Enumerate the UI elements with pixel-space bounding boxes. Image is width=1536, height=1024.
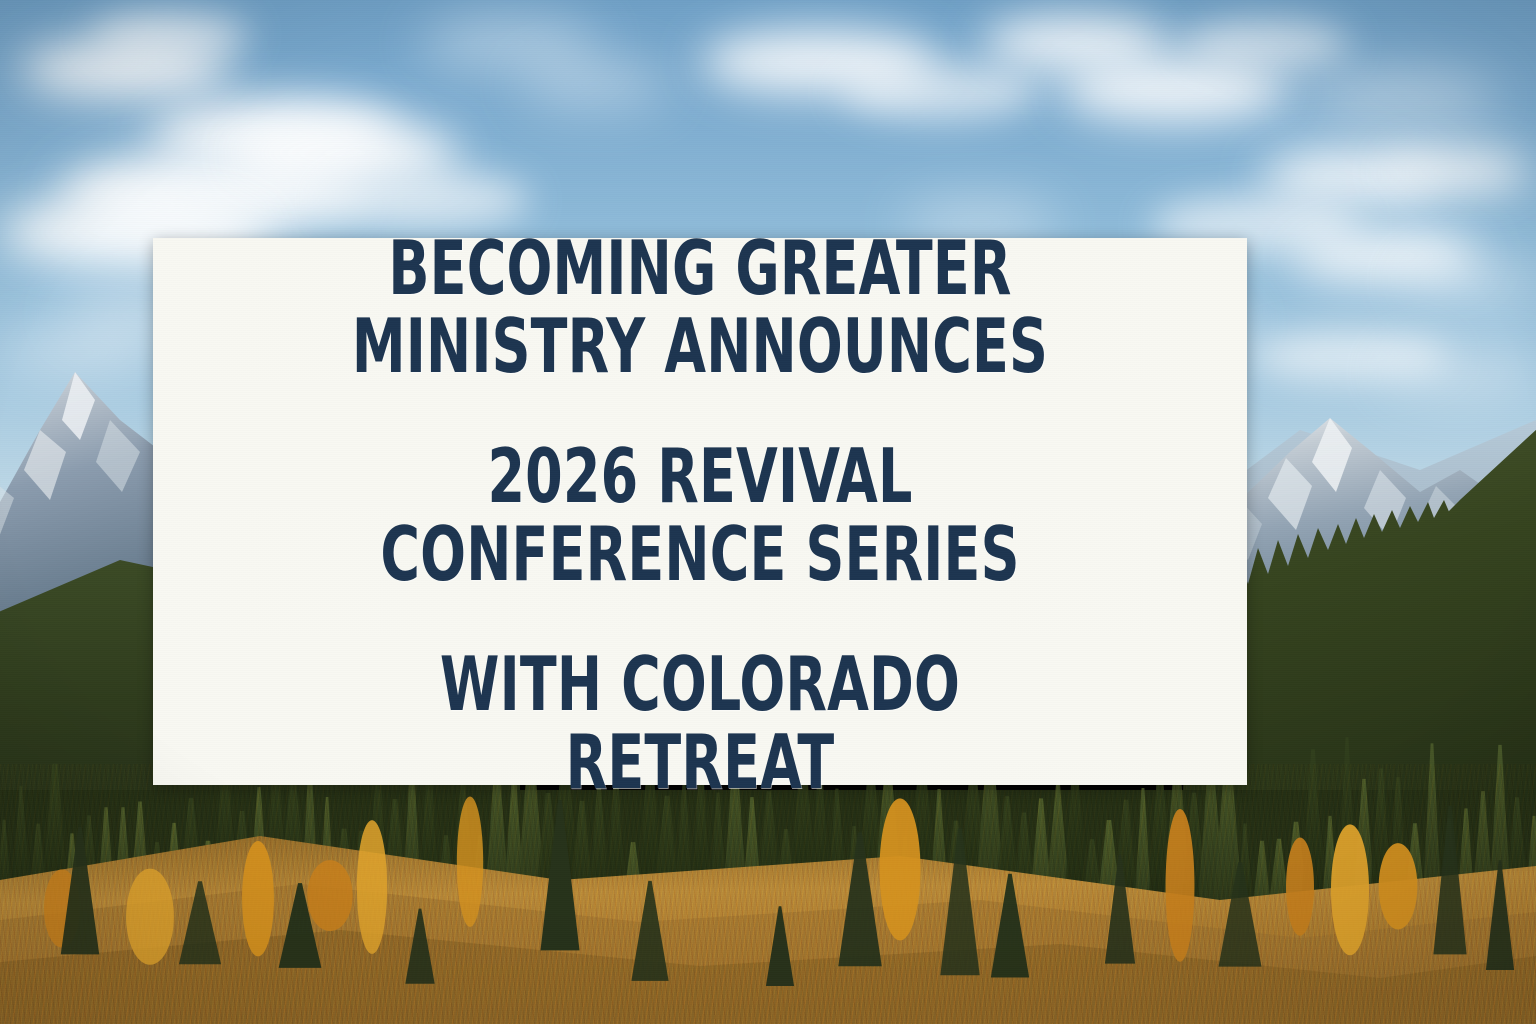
aspen-tree — [880, 798, 921, 940]
foreground-conifer — [1486, 860, 1514, 970]
aspen-tree — [1286, 838, 1314, 936]
headline-line-3: WITH COLORADO RETREAT — [304, 645, 1096, 801]
foreground-conifer — [405, 909, 434, 984]
aspen-tree — [242, 841, 274, 956]
foreground-conifer — [1433, 806, 1466, 955]
headline-line-2: 2026 REVIVAL CONFERENCE SERIES — [304, 437, 1096, 593]
aspen-tree — [1331, 824, 1369, 955]
foreground-conifer — [838, 832, 881, 966]
aspen-tree — [126, 869, 174, 965]
headline-group: BECOMING GREATER MINISTRY ANNOUNCES 2026… — [205, 229, 1195, 801]
aspen-tree — [457, 796, 483, 926]
foreground-conifer — [179, 881, 221, 964]
foreground-conifer — [991, 874, 1029, 978]
aspen-tree — [1166, 809, 1195, 962]
headline-line-1: BECOMING GREATER MINISTRY ANNOUNCES — [304, 229, 1096, 385]
foreground-conifer — [631, 881, 668, 981]
aspen-tree — [1379, 843, 1418, 929]
foreground-conifer — [940, 828, 979, 975]
announcement-graphic: BECOMING GREATER MINISTRY ANNOUNCES 2026… — [0, 0, 1536, 1024]
foreground-conifer — [540, 800, 579, 951]
foreground-conifer — [1219, 862, 1262, 966]
announcement-card: BECOMING GREATER MINISTRY ANNOUNCES 2026… — [153, 238, 1247, 785]
aspen-tree — [357, 820, 387, 954]
foreground-conifer — [766, 906, 794, 986]
foreground-conifer — [1105, 855, 1135, 964]
aspen-tree — [307, 860, 352, 931]
